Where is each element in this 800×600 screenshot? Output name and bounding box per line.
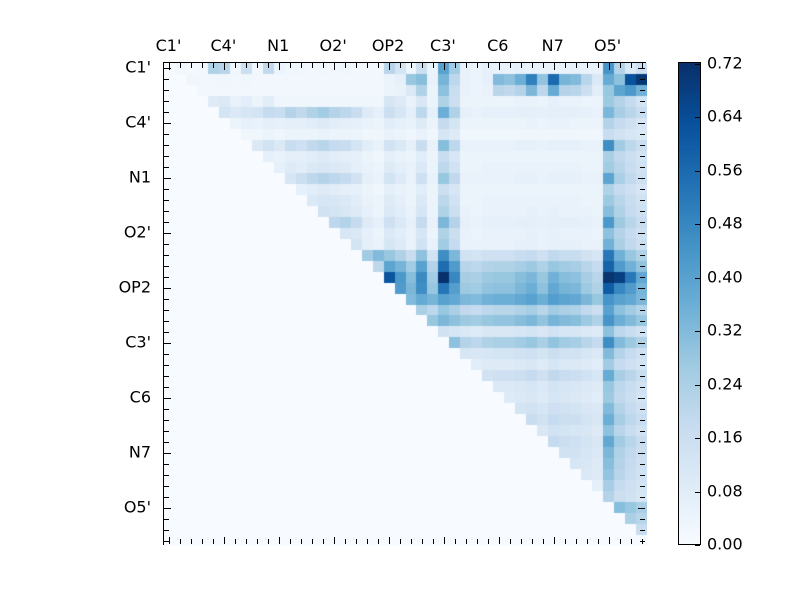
x-tick <box>356 63 357 68</box>
x-tick-label-C6: C6 <box>487 36 508 55</box>
x-tick <box>587 63 588 68</box>
y-tick <box>164 508 171 509</box>
y-tick <box>164 222 169 223</box>
y-tick <box>164 420 169 421</box>
colorbar-tick <box>695 171 700 172</box>
x-tick <box>246 63 247 68</box>
y-tick <box>164 497 169 498</box>
y-tick <box>164 332 169 333</box>
y-tick <box>638 343 645 344</box>
y-tick <box>164 68 171 69</box>
colorbar-gradient <box>679 63 700 544</box>
y-tick <box>640 255 645 256</box>
x-tick-label-C4p: C4' <box>211 36 237 55</box>
y-tick <box>640 222 645 223</box>
x-tick <box>543 63 544 68</box>
y-tick <box>638 508 645 509</box>
x-tick <box>378 63 379 68</box>
y-tick <box>640 299 645 300</box>
y-tick <box>640 464 645 465</box>
colorbar-tick <box>695 224 700 225</box>
y-tick-label-O5p: O5' <box>0 497 151 516</box>
y-tick <box>640 321 645 322</box>
x-tick <box>312 539 313 544</box>
x-tick <box>466 539 467 544</box>
x-tick <box>609 537 610 544</box>
y-tick <box>164 299 169 300</box>
y-tick-label-O2p: O2' <box>0 223 151 242</box>
heatmap-canvas <box>164 63 647 546</box>
colorbar-label-0.24: 0.24 <box>707 374 743 393</box>
y-tick <box>640 134 645 135</box>
x-tick <box>213 63 214 68</box>
x-tick <box>521 63 522 68</box>
y-tick <box>640 541 645 542</box>
x-tick <box>345 539 346 544</box>
x-tick <box>367 539 368 544</box>
colorbar-tick <box>695 64 700 65</box>
colorbar-tick <box>695 331 700 332</box>
y-tick <box>164 519 169 520</box>
y-tick <box>640 387 645 388</box>
y-tick <box>640 101 645 102</box>
x-tick-label-C1p: C1' <box>156 36 182 55</box>
y-tick <box>164 79 169 80</box>
x-tick <box>422 539 423 544</box>
y-tick <box>640 420 645 421</box>
y-tick <box>164 255 169 256</box>
y-tick <box>164 266 169 267</box>
colorbar-label-0.72: 0.72 <box>707 54 743 73</box>
y-tick <box>640 497 645 498</box>
x-tick <box>565 63 566 68</box>
x-tick <box>180 539 181 544</box>
x-tick <box>466 63 467 68</box>
x-tick <box>488 539 489 544</box>
y-tick <box>164 233 171 234</box>
x-tick <box>620 539 621 544</box>
colorbar-tick <box>695 278 700 279</box>
y-tick <box>164 354 169 355</box>
y-tick <box>164 398 171 399</box>
x-tick <box>323 539 324 544</box>
y-tick <box>640 156 645 157</box>
y-tick <box>164 123 171 124</box>
x-tick <box>191 539 192 544</box>
x-tick <box>279 537 280 544</box>
x-tick <box>510 63 511 68</box>
y-tick-label-OP2: OP2 <box>0 278 151 297</box>
x-tick <box>565 539 566 544</box>
y-tick <box>638 123 645 124</box>
y-tick <box>640 189 645 190</box>
y-tick <box>164 464 169 465</box>
x-tick <box>411 63 412 68</box>
x-tick <box>499 63 500 70</box>
colorbar <box>678 62 701 545</box>
x-tick <box>642 63 643 68</box>
y-tick <box>640 167 645 168</box>
y-tick-label-C4p: C4' <box>0 113 151 132</box>
y-tick <box>164 277 169 278</box>
figure: C1'C4'N1O2'OP2C3'C6N7O5' C1'C4'N1O2'OP2C… <box>0 0 800 600</box>
x-tick <box>356 539 357 544</box>
y-tick <box>164 431 169 432</box>
x-tick <box>598 63 599 68</box>
heatmap-plot-area <box>163 62 646 545</box>
colorbar-label-0.64: 0.64 <box>707 107 743 126</box>
x-tick <box>400 63 401 68</box>
y-tick <box>164 145 169 146</box>
y-tick-label-C1p: C1' <box>0 58 151 77</box>
y-tick <box>638 398 645 399</box>
y-tick <box>164 156 169 157</box>
y-tick <box>638 68 645 69</box>
y-tick <box>164 90 169 91</box>
x-tick-label-O2p: O2' <box>320 36 347 55</box>
y-tick-label-C6: C6 <box>0 387 151 406</box>
x-tick <box>631 63 632 68</box>
y-tick <box>164 409 169 410</box>
y-tick <box>164 387 169 388</box>
y-tick <box>640 244 645 245</box>
y-tick <box>164 211 169 212</box>
y-tick <box>164 310 169 311</box>
y-tick-label-C3p: C3' <box>0 332 151 351</box>
x-tick <box>213 539 214 544</box>
x-tick-label-C3p: C3' <box>430 36 456 55</box>
x-tick <box>455 63 456 68</box>
y-tick <box>164 343 171 344</box>
x-tick <box>367 63 368 68</box>
x-tick <box>554 537 555 544</box>
x-tick <box>444 537 445 544</box>
y-tick <box>164 189 169 190</box>
y-tick <box>164 101 169 102</box>
x-tick <box>378 539 379 544</box>
colorbar-tick <box>695 438 700 439</box>
y-tick <box>164 365 169 366</box>
y-tick <box>640 90 645 91</box>
x-tick <box>444 63 445 70</box>
y-tick <box>164 321 169 322</box>
x-tick <box>477 539 478 544</box>
x-tick <box>532 539 533 544</box>
x-tick <box>312 63 313 68</box>
y-tick-label-N7: N7 <box>0 442 151 461</box>
x-tick <box>268 63 269 68</box>
x-tick <box>488 63 489 68</box>
x-tick <box>268 539 269 544</box>
y-tick <box>164 288 171 289</box>
x-tick <box>290 63 291 68</box>
y-tick <box>640 475 645 476</box>
x-tick <box>345 63 346 68</box>
y-tick <box>640 486 645 487</box>
colorbar-label-0.00: 0.00 <box>707 535 743 554</box>
colorbar-label-0.40: 0.40 <box>707 267 743 286</box>
y-tick <box>164 244 169 245</box>
x-tick <box>257 63 258 68</box>
y-tick <box>640 530 645 531</box>
x-tick <box>334 537 335 544</box>
x-tick <box>598 539 599 544</box>
x-tick <box>433 539 434 544</box>
x-tick <box>180 63 181 68</box>
x-tick <box>235 63 236 68</box>
y-tick <box>640 200 645 201</box>
y-tick <box>640 442 645 443</box>
colorbar-label-0.48: 0.48 <box>707 214 743 233</box>
x-tick <box>620 63 621 68</box>
x-tick <box>631 539 632 544</box>
y-tick <box>640 112 645 113</box>
x-tick <box>257 539 258 544</box>
y-tick <box>640 266 645 267</box>
x-tick <box>279 63 280 70</box>
x-tick <box>301 539 302 544</box>
x-tick <box>554 63 555 70</box>
y-tick <box>164 200 169 201</box>
x-tick <box>609 63 610 70</box>
colorbar-label-0.08: 0.08 <box>707 481 743 500</box>
colorbar-label-0.56: 0.56 <box>707 160 743 179</box>
colorbar-tick <box>695 117 700 118</box>
y-tick <box>164 530 169 531</box>
colorbar-tick <box>695 385 700 386</box>
x-tick <box>510 539 511 544</box>
x-tick <box>543 539 544 544</box>
y-tick <box>164 453 171 454</box>
x-tick-label-N7: N7 <box>542 36 564 55</box>
y-tick-label-N1: N1 <box>0 168 151 187</box>
y-tick <box>640 409 645 410</box>
colorbar-tick <box>695 545 700 546</box>
y-tick <box>640 365 645 366</box>
x-tick <box>576 63 577 68</box>
x-tick <box>169 537 170 544</box>
x-tick <box>532 63 533 68</box>
x-tick <box>224 537 225 544</box>
x-tick <box>224 63 225 70</box>
x-tick <box>202 63 203 68</box>
colorbar-label-0.32: 0.32 <box>707 321 743 340</box>
x-tick-label-N1: N1 <box>267 36 289 55</box>
x-tick <box>202 539 203 544</box>
y-tick <box>164 134 169 135</box>
y-tick <box>164 112 169 113</box>
y-tick <box>640 354 645 355</box>
x-tick <box>246 539 247 544</box>
x-tick <box>499 537 500 544</box>
x-tick <box>389 537 390 544</box>
y-tick <box>638 233 645 234</box>
x-tick-label-O5p: O5' <box>594 36 621 55</box>
y-tick <box>638 178 645 179</box>
y-tick <box>640 79 645 80</box>
y-tick <box>640 431 645 432</box>
x-tick <box>400 539 401 544</box>
y-tick <box>640 519 645 520</box>
x-tick <box>334 63 335 70</box>
y-tick <box>164 442 169 443</box>
x-tick-label-OP2: OP2 <box>372 36 404 55</box>
colorbar-label-0.16: 0.16 <box>707 428 743 447</box>
x-tick <box>455 539 456 544</box>
colorbar-tick <box>695 492 700 493</box>
y-tick <box>640 332 645 333</box>
y-tick <box>164 475 169 476</box>
x-tick <box>235 539 236 544</box>
x-tick <box>433 63 434 68</box>
y-tick <box>640 145 645 146</box>
x-tick <box>422 63 423 68</box>
x-tick <box>587 539 588 544</box>
x-tick <box>323 63 324 68</box>
y-tick <box>640 277 645 278</box>
y-tick <box>638 453 645 454</box>
x-tick <box>576 539 577 544</box>
y-tick <box>164 486 169 487</box>
y-tick <box>164 167 169 168</box>
y-tick <box>640 376 645 377</box>
y-tick <box>164 541 169 542</box>
y-tick <box>640 310 645 311</box>
x-tick <box>411 539 412 544</box>
x-tick <box>191 63 192 68</box>
y-tick <box>638 288 645 289</box>
y-tick <box>164 376 169 377</box>
x-tick <box>301 63 302 68</box>
y-tick <box>640 211 645 212</box>
x-tick <box>389 63 390 70</box>
x-tick <box>477 63 478 68</box>
x-tick <box>290 539 291 544</box>
y-tick <box>164 178 171 179</box>
x-tick <box>521 539 522 544</box>
